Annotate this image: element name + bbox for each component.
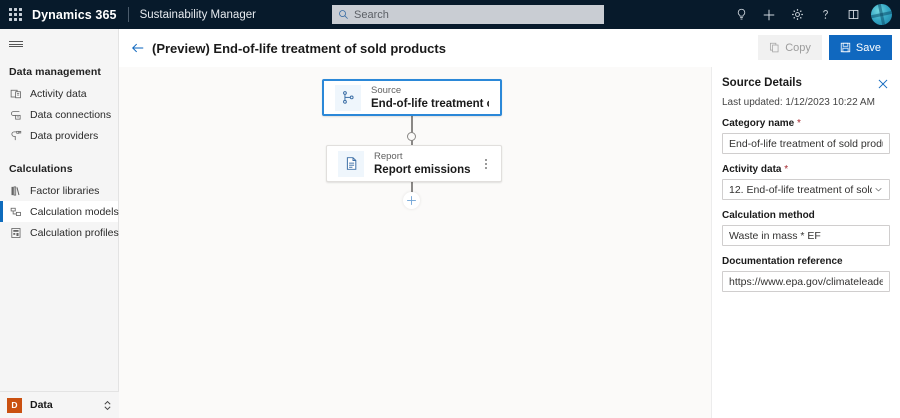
source-branch-icon <box>335 85 361 111</box>
brand-divider <box>128 7 129 22</box>
calculation-models-icon <box>9 205 22 218</box>
factor-libraries-icon <box>9 184 22 197</box>
documentation-reference-field[interactable]: https://www.epa.gov/climateleadership/gh… <box>722 271 890 292</box>
command-bar: (Preview) End-of-life treatment of sold … <box>119 29 900 67</box>
activity-data-icon <box>9 87 22 100</box>
field-value: https://www.epa.gov/climateleadership/gh… <box>729 276 883 288</box>
field-documentation-reference: Documentation reference https://www.epa.… <box>722 256 890 292</box>
chevron-updown-icon <box>103 399 112 412</box>
close-icon[interactable] <box>876 77 890 91</box>
top-navigation-bar: Dynamics 365 Sustainability Manager Sear… <box>0 0 900 29</box>
plus-icon[interactable] <box>755 0 783 29</box>
sidebar-item-label: Factor libraries <box>30 185 99 197</box>
hamburger-menu-icon[interactable] <box>0 29 119 59</box>
book-icon[interactable] <box>839 0 867 29</box>
calculation-method-field[interactable]: Waste in mass * EF <box>722 225 890 246</box>
lightbulb-icon[interactable] <box>727 0 755 29</box>
field-value: Waste in mass * EF <box>729 230 883 242</box>
edge-connection-dot <box>407 132 416 141</box>
sidebar-item-factor-libraries[interactable]: Factor libraries <box>0 180 118 201</box>
panel-title: Source Details <box>722 77 802 89</box>
avatar[interactable] <box>871 4 892 25</box>
data-providers-icon <box>9 129 22 142</box>
add-step-button[interactable] <box>403 192 420 209</box>
field-category-name: Category name * End-of-life treatment of… <box>722 118 890 154</box>
question-icon[interactable] <box>811 0 839 29</box>
node-more-options-icon[interactable] <box>480 155 492 173</box>
field-value: End-of-life treatment of sold products <box>729 138 883 150</box>
node-name-label: Report emissions <box>374 163 471 177</box>
source-details-panel: Source Details Last updated: 1/12/2023 1… <box>711 67 900 418</box>
required-asterisk: * <box>781 164 788 175</box>
search-icon <box>338 9 349 20</box>
sidebar-group-title-data-management: Data management <box>0 59 118 83</box>
node-kind-label: Source <box>371 84 489 97</box>
node-name-label: End-of-life treatment o... <box>371 97 489 111</box>
gear-icon[interactable] <box>783 0 811 29</box>
page-title: (Preview) End-of-life treatment of sold … <box>152 41 446 56</box>
sidebar-item-calculation-models[interactable]: Calculation models <box>0 201 118 222</box>
save-button-label: Save <box>856 42 881 54</box>
chevron-down-icon[interactable] <box>874 185 883 194</box>
sidebar-item-label: Data connections <box>30 109 111 121</box>
sidebar-item-data-connections[interactable]: Data connections <box>0 104 118 125</box>
calculation-profiles-icon <box>9 226 22 239</box>
required-asterisk: * <box>794 118 801 129</box>
data-connections-icon <box>9 108 22 121</box>
sidebar-item-label: Data providers <box>30 130 98 142</box>
sidebar-spacer <box>0 146 118 156</box>
plus-icon <box>406 195 417 206</box>
sidebar-item-label: Calculation models <box>30 206 119 218</box>
canvas-node-report-text: Report Report emissions <box>374 150 471 177</box>
activity-data-field[interactable]: 12. End-of-life treatment of sold produc… <box>722 179 890 200</box>
area-switcher[interactable]: D Data <box>0 391 119 418</box>
sidebar-group-title-calculations: Calculations <box>0 156 118 180</box>
sidebar-item-calculation-profiles[interactable]: Calculation profiles <box>0 222 118 243</box>
field-label: Documentation reference <box>722 256 890 267</box>
topbar-icon-group <box>727 0 896 29</box>
app-root: Dynamics 365 Sustainability Manager Sear… <box>0 0 900 418</box>
sidebar-item-label: Activity data <box>30 88 87 100</box>
canvas-node-report[interactable]: Report Report emissions <box>326 145 502 182</box>
category-name-field[interactable]: End-of-life treatment of sold products <box>722 133 890 154</box>
field-activity-data: Activity data * 12. End-of-life treatmen… <box>722 164 890 200</box>
left-sidebar: Data management Activity data <box>0 29 119 418</box>
sidebar-item-data-providers[interactable]: Data providers <box>0 125 118 146</box>
node-kind-label: Report <box>374 150 471 163</box>
sidebar-item-activity-data[interactable]: Activity data <box>0 83 118 104</box>
calculation-model-canvas[interactable]: Source End-of-life treatment o... Report… <box>119 67 711 418</box>
field-calculation-method: Calculation method Waste in mass * EF <box>722 210 890 246</box>
sidebar-item-label: Calculation profiles <box>30 227 119 239</box>
copy-icon <box>769 42 780 53</box>
back-arrow-icon[interactable] <box>127 29 149 67</box>
field-label-text: Activity data <box>722 164 781 175</box>
save-icon <box>840 42 851 53</box>
area-badge: D <box>7 398 22 413</box>
report-document-icon <box>338 151 364 177</box>
copy-button-label: Copy <box>785 42 811 54</box>
copy-button[interactable]: Copy <box>758 35 822 60</box>
area-label: Data <box>30 399 103 411</box>
field-label: Category name * <box>722 118 890 129</box>
field-label-text: Category name <box>722 118 794 129</box>
app-name-label[interactable]: Sustainability Manager <box>140 9 256 21</box>
field-value: 12. End-of-life treatment of sold produc… <box>729 184 872 196</box>
brand-title[interactable]: Dynamics 365 <box>30 8 117 22</box>
canvas-node-source-text: Source End-of-life treatment o... <box>371 84 489 111</box>
last-updated-text: Last updated: 1/12/2023 10:22 AM <box>722 97 890 108</box>
command-bar-actions: Copy Save <box>758 35 892 60</box>
canvas-node-source[interactable]: Source End-of-life treatment o... <box>322 79 502 116</box>
search-input[interactable]: Search <box>332 5 604 24</box>
app-launcher-icon[interactable] <box>0 0 30 29</box>
field-label: Calculation method <box>722 210 890 221</box>
field-label: Activity data * <box>722 164 890 175</box>
save-button[interactable]: Save <box>829 35 892 60</box>
panel-header: Source Details <box>722 77 890 91</box>
search-placeholder-text: Search <box>354 9 389 21</box>
